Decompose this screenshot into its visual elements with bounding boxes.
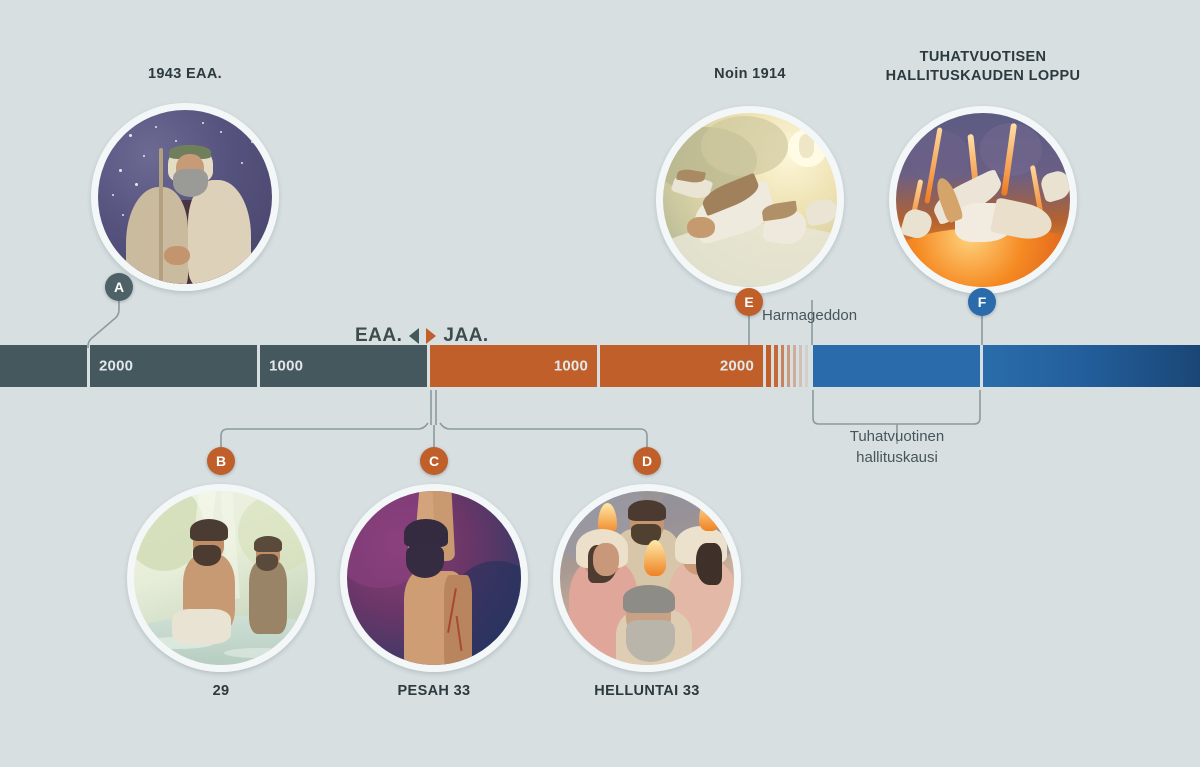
event-circle-d[interactable]: [553, 484, 741, 672]
caption-event-d: HELLUNTAI 33: [547, 682, 747, 701]
caption-event-c: PESAH 33: [334, 682, 534, 701]
event-image-d: [560, 491, 734, 665]
event-circle-b[interactable]: [127, 484, 315, 672]
segment-ce-1000[interactable]: 1000: [430, 345, 597, 387]
segment-bce-1000[interactable]: 1000: [260, 345, 427, 387]
segment-bce-1000-label: 1000: [269, 358, 303, 375]
event-circle-a[interactable]: [91, 103, 279, 291]
era-label-ce: JAA.: [443, 325, 488, 347]
triangle-left-icon: [409, 328, 419, 344]
event-circle-f[interactable]: [889, 106, 1077, 294]
marker-a-label: A: [114, 279, 124, 295]
marker-a[interactable]: A: [105, 273, 133, 301]
event-circle-e[interactable]: [656, 106, 844, 294]
caption-event-e: Noin 1914: [650, 65, 850, 84]
event-circle-c[interactable]: [340, 484, 528, 672]
segment-bce-3000[interactable]: [0, 345, 87, 387]
marker-f[interactable]: F: [968, 288, 996, 316]
caption-event-f: TUHATVUOTISEN HALLITUSKAUDEN LOPPU: [868, 48, 1098, 86]
marker-f-label: F: [978, 294, 987, 310]
caption-event-b: 29: [121, 682, 321, 701]
segment-ce-2000[interactable]: 2000: [600, 345, 763, 387]
segment-bce-2000-label: 2000: [99, 358, 133, 375]
event-image-e: [663, 113, 837, 287]
label-millennium: Tuhatvuotinen hallituskausi: [797, 426, 997, 468]
event-image-b: [134, 491, 308, 665]
marker-c[interactable]: C: [420, 447, 448, 475]
label-harmageddon: Harmageddon: [762, 305, 932, 326]
label-millennium-line1: Tuhatvuotinen: [797, 426, 997, 447]
marker-b-label: B: [216, 453, 226, 469]
segment-millennium-1[interactable]: [813, 345, 980, 387]
timeline-bar: 2000 1000 1000 2000: [0, 345, 1200, 387]
label-millennium-line2: hallituskausi: [797, 447, 997, 468]
segment-millennium-2[interactable]: [983, 345, 1200, 387]
marker-d-label: D: [642, 453, 652, 469]
caption-event-a: 1943 EAA.: [85, 65, 285, 84]
marker-d[interactable]: D: [633, 447, 661, 475]
marker-b[interactable]: B: [207, 447, 235, 475]
timeline-infographic: 1943 EAA. Noin 1914 TUHATVUOTISEN HALLIT…: [0, 0, 1200, 767]
marker-e[interactable]: E: [735, 288, 763, 316]
fading-stripes: [766, 345, 813, 387]
marker-c-label: C: [429, 453, 439, 469]
segment-bce-2000[interactable]: 2000: [90, 345, 257, 387]
era-label-bce: EAA.: [355, 325, 402, 347]
triangle-right-icon: [426, 328, 436, 344]
segment-ce-2000-label: 2000: [720, 358, 754, 375]
event-image-a: [98, 110, 272, 284]
event-image-f: [896, 113, 1070, 287]
segment-ce-1000-label: 1000: [554, 358, 588, 375]
event-image-c: [347, 491, 521, 665]
marker-e-label: E: [744, 294, 753, 310]
